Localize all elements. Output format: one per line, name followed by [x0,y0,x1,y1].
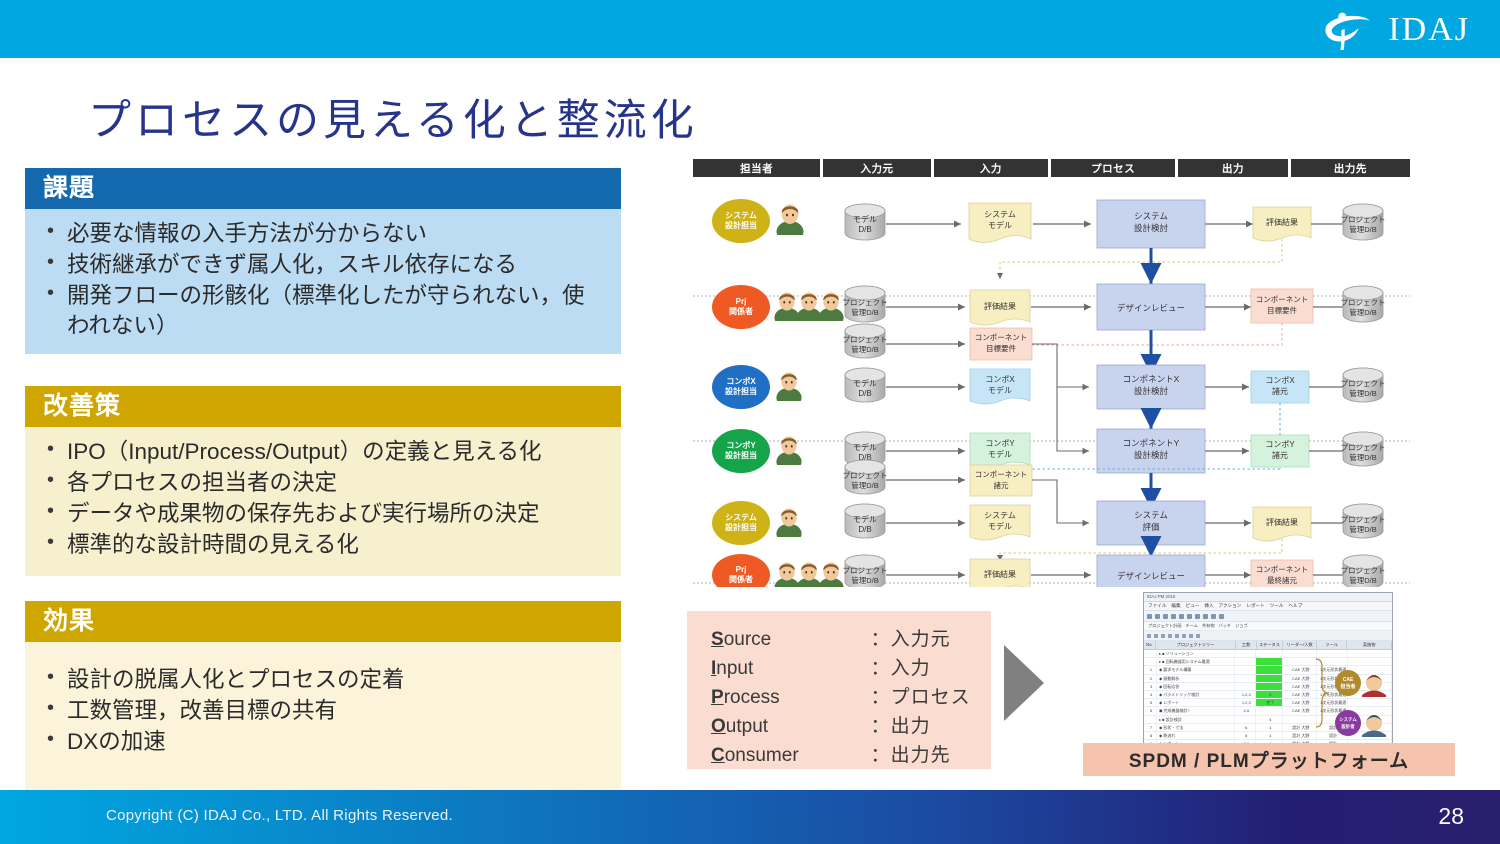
table-cell [1256,650,1283,657]
svg-text:モデル: モデル [988,449,1012,459]
sipoc-en-input: Input [711,654,871,683]
table-cell [1144,716,1157,723]
callout-oval-cae [1335,670,1361,696]
toolbar-icon[interactable] [1154,634,1158,638]
sipoc-row: Process ：プロセス [711,683,971,712]
page-number: 28 [1438,803,1464,830]
mini-toolbar-2 [1144,631,1392,641]
svg-text:CAE: CAE [1343,677,1354,683]
mini-toolbar [1144,611,1392,622]
svg-text:システム: システム [984,511,1016,520]
panel-issues: 課題 必要な情報の入手方法が分からない 技術継承ができず属人化，スキル依存になる… [25,168,621,354]
consumer-db-1: プロジェクト 管理D/B [1341,204,1386,240]
table-cell: 4 [1256,716,1283,723]
sipoc-initial-s: S [711,629,724,650]
table-cell [1235,716,1256,723]
copyright-text: Copyright (C) IDAJ Co., LTD. All Rights … [106,807,453,824]
sipoc-jp-source: ：入力元 [871,625,971,654]
toolbar-icon[interactable] [1168,634,1172,638]
table-cell: ▸ ■ 回転機器用システム最適 [1157,658,1235,665]
toolbar-icon[interactable] [1203,614,1208,619]
ribbon-tab[interactable]: チーム [1186,623,1198,629]
table-cell: ◆ 要求モデル構築 [1157,666,1235,673]
sipoc-en-consumer: Consumer [711,741,871,770]
menu-item[interactable]: ヘルプ [1289,603,1303,609]
panel-measures-heading: 改善策 [25,386,621,427]
toolbar-icon[interactable] [1155,614,1160,619]
svg-text:関係者: 関係者 [729,574,753,584]
menu-item[interactable]: アクション [1219,603,1242,609]
panel-effects-body: 設計の脱属人化とプロセスの定着 工数管理，改善目標の共有 DXの加速 [25,642,621,811]
svg-text:Prj: Prj [736,565,747,574]
grid-header-row: No. プロジェクトツリー 工数 ステータス リーダー/人数 ツール 実施物 [1144,641,1392,650]
idaj-swoosh-icon [1320,9,1378,51]
svg-text:設計者: 設計者 [1341,723,1355,730]
svg-text:プロジェクト: プロジェクト [1341,298,1386,307]
grid-header-tree: プロジェクトツリー [1156,641,1237,649]
list-item: 設計の脱属人化とプロセスの定着 [39,665,607,695]
table-cell: 6 [1235,732,1256,739]
callout-group: CAE 担当者 システム 設計者 [1312,653,1393,744]
table-cell: ◆ 形状・寸法 [1157,724,1235,731]
source-db-3a: プロジェクト 管理D/B [843,324,888,358]
svg-text:コンポーネント: コンポーネント [975,333,1028,342]
sipoc-row: Source ：入力元 [711,625,971,654]
list-item: 開発フローの形骸化（標準化したが守られない，使われない） [39,281,607,341]
flow-header-consumer: 出力先 [1291,159,1410,177]
spdm-screenshot: IDAJ PM 2016 ファイル 編集 ビュー 挿入 アクション レポート ツ… [1143,592,1393,744]
mini-menu-bar: ファイル 編集 ビュー 挿入 アクション レポート ツール ヘルプ [1144,602,1392,611]
table-cell [1256,666,1283,673]
flow-header-output: 出力 [1178,159,1287,177]
sipoc-legend: Source ：入力元 Input ：入力 Process ：プロセス Outp… [687,611,991,769]
source-db-5b: モデル D/B [845,504,885,538]
table-cell: 1,2,3 [1235,699,1256,706]
toolbar-icon[interactable] [1163,614,1168,619]
list-item: IPO（Input/Process/Output）の定義と見える化 [39,437,607,467]
flow-svg: システム 設計担当 モデル D/B システム モデル システム 設計検討 評 [693,179,1410,587]
idaj-logo: IDAJ [1320,8,1470,52]
toolbar-icon[interactable] [1195,614,1200,619]
panel-issues-body: 必要な情報の入手方法が分からない 技術継承ができず属人化，スキル依存になる 開発… [25,209,621,354]
svg-text:プロジェクト: プロジェクト [1341,515,1386,524]
grid-header-result: 実施物 [1347,641,1392,649]
table-cell: 4 [1144,691,1157,698]
toolbar-icon[interactable] [1187,614,1192,619]
idaj-logo-text: IDAJ [1388,11,1470,49]
svg-text:システム: システム [1134,510,1168,520]
sipoc-initial-c: C [711,745,725,766]
svg-text:管理D/B: 管理D/B [1349,388,1377,398]
table-cell: 4,5 [1235,707,1256,714]
svg-text:プロジェクト: プロジェクト [843,335,888,344]
svg-text:最終諸元: 最終諸元 [1267,575,1297,585]
menu-item[interactable]: ファイル [1148,603,1166,609]
list-item: 工数管理，改善目標の共有 [39,696,607,726]
svg-text:関係者: 関係者 [729,306,753,316]
source-db-1: モデル D/B [845,204,885,240]
consumer-db-6: プロジェクト 管理D/B [1341,555,1386,587]
svg-text:モデル: モデル [988,220,1012,230]
ribbon-tab[interactable]: バッチ [1219,623,1232,629]
svg-text:コンポY: コンポY [1265,440,1295,449]
table-cell [1256,675,1283,682]
table-cell [1256,683,1283,690]
flow-header-process: プロセス [1051,159,1175,177]
svg-text:モデル: モデル [853,442,877,452]
table-cell: 7 [1144,724,1157,731]
grid-header-hours: 工数 [1236,641,1256,649]
svg-text:コンポーネント: コンポーネント [1256,565,1309,574]
svg-text:デザインレビュー: デザインレビュー [1117,571,1185,581]
svg-text:Prj: Prj [736,297,747,306]
svg-text:設計担当: 設計担当 [725,386,757,396]
svg-text:管理D/B: 管理D/B [1349,307,1377,317]
table-cell [1256,707,1283,714]
top-brand-bar: IDAJ [0,0,1500,58]
consumer-db-3: プロジェクト 管理D/B [1341,368,1386,402]
svg-text:コンポX: コンポX [726,376,756,386]
svg-text:システム: システム [725,211,757,220]
table-cell [1235,658,1256,665]
source-db-3b: モデル D/B [845,368,885,402]
mini-ribbon-tabs: プロジェクト計画 チーム 共有物 バッチ ジョブ [1144,622,1392,631]
toolbar-icon[interactable] [1182,634,1186,638]
spdm-platform-label: SPDM / PLMプラットフォーム [1083,743,1455,776]
svg-text:管理D/B: 管理D/B [1349,524,1377,534]
svg-text:プロジェクト: プロジェクト [1341,443,1386,452]
list-item: 各プロセスの担当者の決定 [39,468,607,498]
table-cell: ▸ ■ 設計検討 [1157,716,1235,723]
svg-text:コンポーネント: コンポーネント [975,470,1028,479]
svg-text:諸元: 諸元 [1272,450,1288,460]
svg-text:プロジェクト: プロジェクト [843,471,888,480]
flow-header-source: 入力元 [823,159,930,177]
svg-text:システム: システム [725,513,757,522]
flow-header-input: 入力 [934,159,1048,177]
table-cell [1235,683,1256,690]
toolbar-icon[interactable] [1211,614,1216,619]
toolbar-icon[interactable] [1161,634,1165,638]
grid-header-tool: ツール [1317,641,1347,649]
toolbar-icon[interactable] [1147,614,1152,619]
svg-text:設計担当: 設計担当 [725,450,757,460]
svg-text:システム: システム [984,210,1016,219]
svg-text:モデル: モデル [853,514,877,524]
grid-header-status: ステータス [1257,641,1283,649]
source-db-5a: プロジェクト 管理D/B [843,460,888,494]
list-item: 標準的な設計時間の見える化 [39,530,607,560]
consumer-db-4: プロジェクト 管理D/B [1341,432,1386,466]
svg-text:プロジェクト: プロジェクト [843,566,888,575]
svg-text:モデル: モデル [853,378,877,388]
sipoc-en-output: Output [711,712,871,741]
svg-text:管理D/B: 管理D/B [851,480,879,490]
list-item: 必要な情報の入手方法が分からない [39,219,607,249]
svg-text:管理D/B: 管理D/B [851,575,879,585]
sipoc-jp-consumer: ：出力先 [871,741,971,770]
table-cell: ◆ 熱流れ [1157,732,1235,739]
svg-text:システム: システム [1134,211,1168,221]
ribbon-tab[interactable]: 共有物 [1202,623,1215,629]
svg-text:プロジェクト: プロジェクト [1341,379,1386,388]
table-cell [1144,650,1157,657]
sipoc-en-source: Source [711,625,871,654]
process-flow-diagram: 担当者 入力元 入力 プロセス 出力 出力先 [693,159,1410,587]
table-cell [1235,666,1256,673]
table-cell: 6 [1144,707,1157,714]
panel-effects-heading: 効果 [25,601,621,642]
svg-text:目標要件: 目標要件 [1267,305,1297,315]
table-cell: ◆ レポート [1157,699,1235,706]
sipoc-row: Output ：出力 [711,712,971,741]
sipoc-rest-source: ource [724,629,772,650]
toolbar-icon[interactable] [1175,634,1179,638]
sipoc-row: Input ：入力 [711,654,971,683]
svg-text:設計検討: 設計検討 [1134,450,1169,460]
panel-issues-heading: 課題 [25,168,621,209]
table-cell: 4 [1256,732,1283,739]
toolbar-icon[interactable] [1171,614,1176,619]
table-cell [1235,650,1256,657]
svg-text:管理D/B: 管理D/B [851,307,879,317]
menu-item[interactable]: レポート [1246,603,1264,609]
table-cell [1235,675,1256,682]
sipoc-jp-input: ：入力 [871,654,971,683]
svg-text:コンポネントX: コンポネントX [1123,374,1180,384]
table-cell: 6 [1235,724,1256,731]
list-item: データや成果物の保存先および実行場所の決定 [39,499,607,529]
ribbon-tab[interactable]: ジョブ [1235,623,1248,629]
callout-oval-system [1335,710,1361,736]
menu-item[interactable]: ツール [1270,603,1284,609]
sipoc-rest-consumer: onsumer [725,745,799,766]
sipoc-initial-p: P [711,687,724,708]
svg-text:担当者: 担当者 [1340,683,1355,690]
svg-text:管理D/B: 管理D/B [851,344,879,354]
svg-text:デザインレビュー: デザインレビュー [1117,303,1185,313]
flow-column-headers: 担当者 入力元 入力 プロセス 出力 出力先 [693,159,1410,177]
table-cell: ◆ パラメトリック検討 [1157,691,1235,698]
svg-text:コンポY: コンポY [726,440,756,450]
svg-text:評価: 評価 [1142,522,1160,532]
svg-text:プロジェクト: プロジェクト [1341,215,1386,224]
flow-header-owner: 担当者 [693,159,820,177]
menu-item[interactable]: 挿入 [1204,603,1213,609]
svg-text:モデル: モデル [988,521,1012,531]
sipoc-initial-o: O [711,716,726,737]
svg-text:諸元: 諸元 [1272,386,1288,396]
svg-text:D/B: D/B [858,225,871,234]
svg-text:D/B: D/B [858,525,871,534]
flow-canvas: システム 設計担当 モデル D/B システム モデル システム 設計検討 評 [693,179,1410,587]
list-item: DXの加速 [39,727,607,757]
svg-text:目標要件: 目標要件 [986,343,1016,353]
source-db-6: プロジェクト 管理D/B [843,555,888,587]
table-cell: 完了 [1256,699,1283,706]
svg-text:評価結果: 評価結果 [984,301,1016,311]
svg-text:設計検討: 設計検討 [1134,386,1169,396]
table-cell: 8 [1144,732,1157,739]
footer-bar: Copyright (C) IDAJ Co., LTD. All Rights … [0,790,1500,844]
panel-measures-body: IPO（Input/Process/Output）の定義と見える化 各プロセスの… [25,427,621,576]
sipoc-rest-process: rocess [724,687,780,708]
svg-text:モデル: モデル [988,385,1012,395]
toolbar-icon[interactable] [1147,634,1151,638]
svg-text:モデル: モデル [853,214,877,224]
sipoc-rest-output: utput [726,716,768,737]
table-cell: 2 [1144,675,1157,682]
source-db-2: プロジェクト 管理D/B [843,286,888,322]
right-arrow-icon [1002,643,1046,723]
toolbar-icon[interactable] [1189,634,1193,638]
svg-text:コンポネントY: コンポネントY [1123,438,1180,448]
svg-text:D/B: D/B [858,389,871,398]
table-cell: 1 [1144,666,1157,673]
svg-text:管理D/B: 管理D/B [1349,452,1377,462]
svg-text:プロジェクト: プロジェクト [1341,566,1386,575]
consumer-db-5: プロジェクト 管理D/B [1341,504,1386,538]
toolbar-icon[interactable] [1219,614,1224,619]
spdm-platform-block: IDAJ PM 2016 ファイル 編集 ビュー 挿入 アクション レポート ツ… [1143,592,1405,778]
svg-text:プロジェクト: プロジェクト [843,298,888,307]
table-cell: ◆ 振動解析 [1157,675,1235,682]
consumer-db-2: プロジェクト 管理D/B [1341,286,1386,322]
table-cell: ◼ 完成機器検討? [1157,707,1235,714]
sipoc-jp-output: ：出力 [871,712,971,741]
svg-text:コンポーネント: コンポーネント [1256,295,1309,304]
svg-text:管理D/B: 管理D/B [1349,224,1377,234]
sipoc-rest-input: nput [716,658,753,679]
svg-text:設計担当: 設計担当 [725,220,757,230]
list-item: 技術継承ができず属人化，スキル依存になる [39,250,607,280]
grid-header-leader: リーダー/人数 [1283,641,1317,649]
panel-measures: 改善策 IPO（Input/Process/Output）の定義と見える化 各プ… [25,386,621,576]
table-cell: 2 [1256,691,1283,698]
sipoc-jp-process: ：プロセス [871,683,971,712]
sipoc-en-process: Process [711,683,871,712]
table-cell [1144,658,1157,665]
toolbar-icon[interactable] [1179,614,1184,619]
table-cell [1256,658,1283,665]
svg-text:評価結果: 評価結果 [984,569,1016,579]
svg-text:評価結果: 評価結果 [1266,517,1298,527]
table-cell: 5 [1144,699,1157,706]
table-cell: 1,2,3 [1235,691,1256,698]
menu-item[interactable]: 編集 [1171,603,1180,609]
sipoc-row: Consumer ：出力先 [711,741,971,770]
svg-text:諸元: 諸元 [994,480,1009,490]
ribbon-tab[interactable]: プロジェクト計画 [1148,623,1182,629]
svg-text:コンポX: コンポX [985,375,1015,384]
menu-item[interactable]: ビュー [1186,603,1200,609]
svg-text:評価結果: 評価結果 [1266,217,1298,227]
svg-text:管理D/B: 管理D/B [1349,575,1377,585]
grid-header-no: No. [1144,641,1156,649]
table-cell: 4 [1256,724,1283,731]
svg-text:コンポX: コンポX [1265,376,1295,385]
table-cell: 3 [1144,683,1157,690]
page-title: プロセスの見える化と整流化 [88,86,698,148]
mini-window-title: IDAJ PM 2016 [1144,593,1392,602]
panel-effects: 効果 設計の脱属人化とプロセスの定着 工数管理，改善目標の共有 DXの加速 [25,601,621,811]
toolbar-icon[interactable] [1196,634,1200,638]
svg-text:設計担当: 設計担当 [725,522,757,532]
svg-text:コンポY: コンポY [985,439,1015,448]
table-cell: ◆ 回転応答 [1157,683,1235,690]
svg-text:設計検討: 設計検討 [1134,223,1169,233]
table-cell: ▸ ■ ソリューション [1157,650,1235,657]
